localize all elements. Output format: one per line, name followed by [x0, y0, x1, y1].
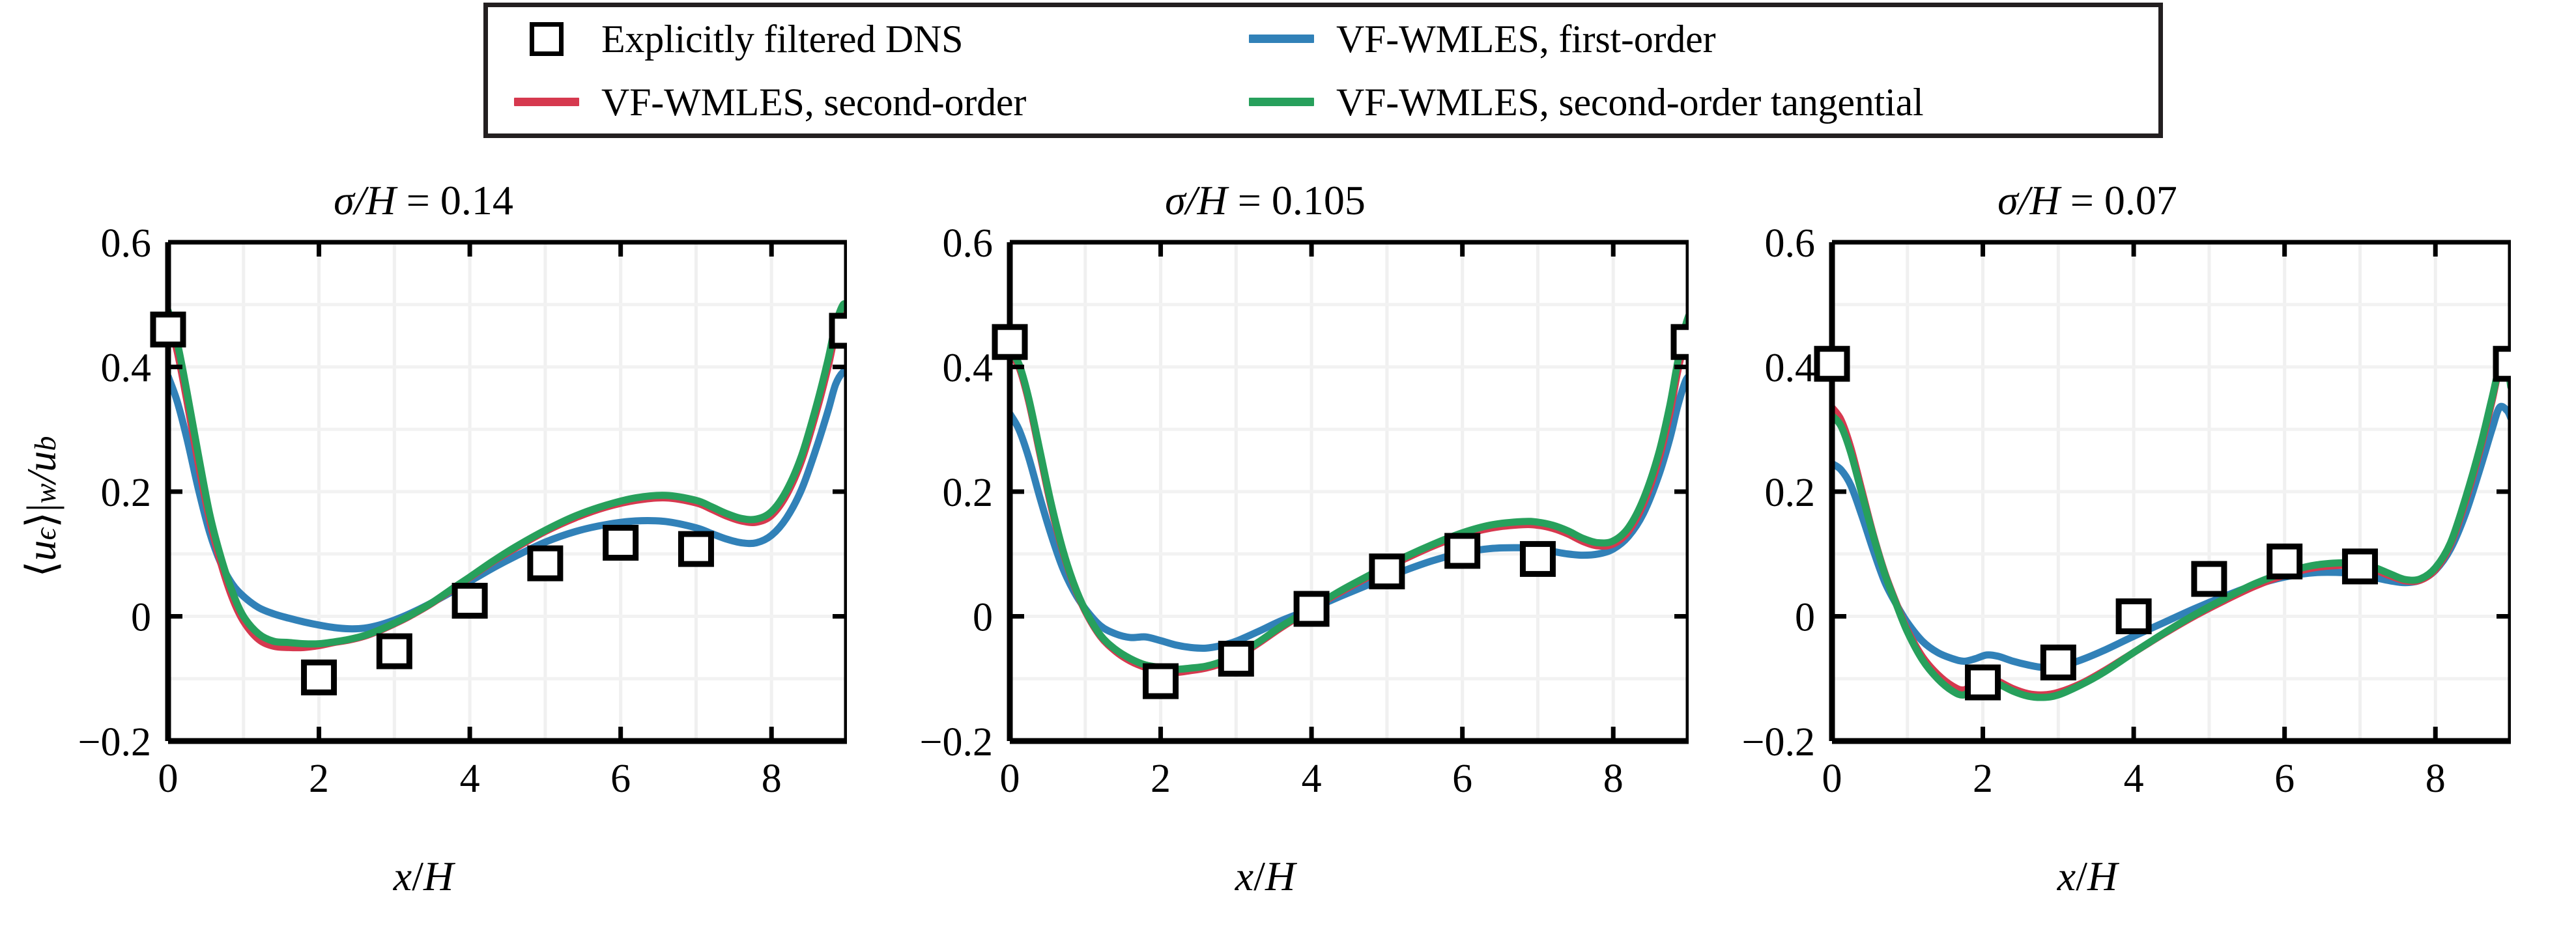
plot-panel-2: σ/H = 0.07 02468−0.200.20.40.6 x/H [1664, 180, 2511, 952]
legend-item-first-order: VF-WMLES, first-order [1223, 20, 2148, 59]
y-tick-label: 0.6 [943, 227, 994, 266]
y-tick-label: 0.4 [101, 346, 152, 391]
plot-panel-1: σ/H = 0.105 02468−0.200.20.40.6 x/H [842, 180, 1689, 952]
x-axis-label-0: x/H [0, 856, 847, 897]
x-tick-label: 6 [2274, 757, 2295, 801]
legend-label-dns: Explicitly filtered DNS [601, 20, 963, 59]
x-axis-label-2: x/H [1664, 856, 2511, 897]
plot-svg-1: 02468−0.200.20.40.6 [842, 227, 1689, 865]
legend-item-dns: Explicitly filtered DNS [488, 20, 1223, 59]
legend: Explicitly filtered DNS VF-WMLES, first-… [483, 3, 2163, 138]
y-tick-label: 0.6 [1765, 227, 1816, 266]
y-tick-label: 0.4 [943, 346, 994, 391]
x-axis-label-1: x/H [842, 856, 1689, 897]
y-tick-label: 0.2 [1765, 471, 1816, 515]
x-tick-label: 4 [1302, 757, 1322, 801]
x-tick-label: 6 [610, 757, 631, 801]
x-tick-label: 2 [1973, 757, 1993, 801]
panel-title-1: σ/H = 0.105 [842, 180, 1689, 221]
y-tick-label: 0 [1795, 596, 1815, 640]
legend-item-second-order: VF-WMLES, second-order [488, 83, 1223, 122]
x-tick-label: 8 [1603, 757, 1624, 801]
x-tick-label: 0 [158, 757, 179, 801]
legend-label-first-order: VF-WMLES, first-order [1336, 20, 1715, 59]
y-tick-label: 0 [131, 596, 151, 640]
y-tick-label: −0.2 [78, 720, 151, 764]
y-tick-label: 0.2 [101, 471, 152, 515]
panel-title-0: σ/H = 0.14 [0, 180, 847, 221]
x-tick-label: 0 [1822, 757, 1842, 801]
plot-panel-0: σ/H = 0.14 ⟨uϵ⟩|w/ub 02468−0.200.20.40.6… [0, 180, 847, 952]
line-swatch-icon [1244, 35, 1319, 43]
line-swatch-icon [1244, 98, 1319, 106]
x-tick-label: 4 [460, 757, 480, 801]
plot-svg-2: 02468−0.200.20.40.6 [1664, 227, 2511, 865]
x-tick-label: 8 [762, 757, 782, 801]
y-tick-label: 0.6 [101, 227, 152, 266]
panel-title-2: σ/H = 0.07 [1664, 180, 2511, 221]
legend-item-second-order-tangential: VF-WMLES, second-order tangential [1223, 83, 2148, 122]
x-tick-label: 6 [1452, 757, 1472, 801]
open-square-icon [509, 22, 584, 56]
legend-label-second-order: VF-WMLES, second-order [601, 83, 1026, 122]
x-tick-label: 8 [2426, 757, 2446, 801]
x-tick-label: 0 [1000, 757, 1020, 801]
legend-label-second-order-tangential: VF-WMLES, second-order tangential [1336, 83, 1924, 122]
y-tick-label: 0.4 [1765, 346, 1816, 391]
y-tick-label: 0 [973, 596, 993, 640]
y-tick-label: −0.2 [1742, 720, 1815, 764]
line-swatch-icon [509, 98, 584, 106]
x-tick-label: 2 [1151, 757, 1171, 801]
x-tick-label: 4 [2124, 757, 2144, 801]
plot-svg-0: 02468−0.200.20.40.6 [0, 227, 847, 865]
y-tick-label: −0.2 [920, 720, 993, 764]
y-tick-label: 0.2 [943, 471, 994, 515]
x-tick-label: 2 [309, 757, 329, 801]
